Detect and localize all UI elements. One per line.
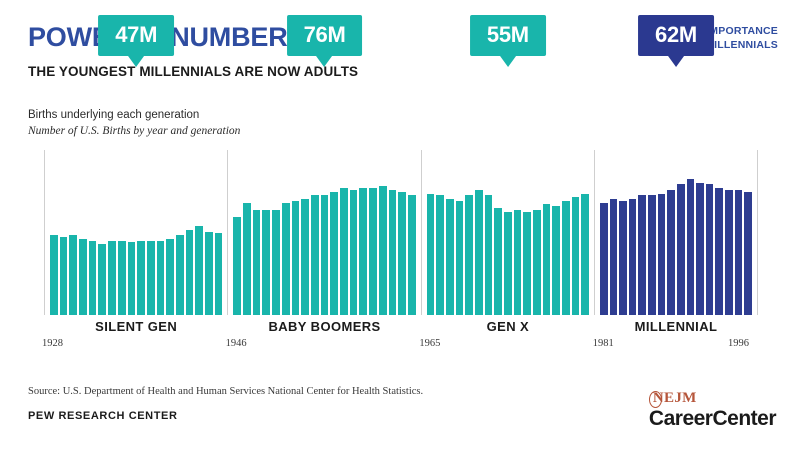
oval-icon (649, 391, 662, 408)
infographic-page: POWER IN NUMBERS THE IMPORTANCE OF MILLE… (0, 0, 800, 450)
bar (321, 195, 329, 315)
bar (735, 190, 743, 315)
axis-year-label: 1996 (728, 338, 749, 349)
attribution: PEW RESEARCH CENTER (28, 410, 178, 422)
bar-group (595, 150, 757, 315)
bar (330, 192, 338, 315)
bar (195, 226, 203, 315)
generation-total-callout: 47M (98, 15, 174, 56)
bar (658, 194, 666, 315)
bar (638, 195, 646, 315)
bar (166, 239, 174, 315)
page-subtitle: THE YOUNGEST MILLENNIALS ARE NOW ADULTS (28, 64, 358, 79)
bar-group (45, 150, 227, 315)
bar (359, 188, 367, 315)
bar (108, 241, 116, 315)
bar (147, 241, 155, 315)
bar (523, 212, 531, 315)
generation-section-millennial: 62MMILLENNIAL (594, 150, 758, 315)
bar (205, 232, 213, 315)
generation-label: MILLENNIAL (595, 319, 757, 334)
axis-year-label: 1946 (226, 338, 247, 349)
bar (79, 239, 87, 315)
bar-group (422, 150, 594, 315)
bar (552, 206, 560, 315)
generation-sections: 47MSILENT GEN76MBABY BOOMERS55MGEN X62MM… (44, 150, 758, 315)
bar (677, 184, 685, 315)
births-bar-chart: 47MSILENT GEN76MBABY BOOMERS55MGEN X62MM… (44, 150, 758, 315)
bar (340, 188, 348, 315)
generation-label: BABY BOOMERS (228, 319, 420, 334)
generation-section-silent-gen: 47MSILENT GEN (44, 150, 227, 315)
axis-year-label: 1965 (419, 338, 440, 349)
bar (485, 195, 493, 315)
nejm-careercenter-logo: NEJM CareerCenter (649, 390, 776, 429)
bar (648, 195, 656, 315)
nejm-wordmark: NEJM (649, 391, 697, 406)
bar (369, 188, 377, 315)
careercenter-text: CareerCenter (649, 408, 776, 429)
bar (725, 190, 733, 315)
bar (69, 235, 77, 315)
generation-section-gen-x: 55MGEN X (421, 150, 594, 315)
bar (572, 197, 580, 315)
chart-caption-main: Births underlying each generation (28, 109, 199, 121)
bar (272, 210, 280, 315)
bar (292, 201, 300, 315)
bar (408, 195, 416, 315)
bar (543, 204, 551, 315)
bar (533, 210, 541, 315)
chart-caption-italic: Number of U.S. Births by year and genera… (28, 124, 240, 140)
bar (350, 190, 358, 315)
bar (50, 235, 58, 315)
bar (243, 203, 251, 315)
bar (186, 230, 194, 315)
generation-label: GEN X (422, 319, 594, 334)
generation-total-callout: 55M (470, 15, 546, 56)
bar (118, 241, 126, 315)
bar (379, 186, 387, 315)
bar (89, 241, 97, 315)
bar (233, 217, 241, 315)
bar (562, 201, 570, 315)
bar (436, 195, 444, 315)
bar (744, 192, 752, 315)
bar (504, 212, 512, 315)
bar (215, 233, 223, 315)
bar (715, 188, 723, 315)
year-axis: 19281946196519811996 (0, 338, 800, 358)
bar (398, 192, 406, 315)
bar (253, 210, 261, 315)
bar-group (228, 150, 420, 315)
bar (137, 241, 145, 315)
bar (514, 210, 522, 315)
bar (262, 210, 270, 315)
bar (176, 235, 184, 315)
bar (456, 201, 464, 315)
source-note: Source: U.S. Department of Health and Hu… (28, 386, 423, 397)
bar (706, 184, 714, 315)
bar (301, 199, 309, 315)
generation-total-callout: 76M (287, 15, 363, 56)
bar (687, 179, 695, 315)
bar (311, 195, 319, 315)
bar (581, 194, 589, 315)
generation-label: SILENT GEN (45, 319, 227, 334)
bar (465, 195, 473, 315)
bar (629, 199, 637, 315)
bar (667, 190, 675, 315)
bar (60, 237, 68, 315)
axis-year-label: 1981 (593, 338, 614, 349)
bar (389, 190, 397, 315)
generation-section-baby-boomers: 76MBABY BOOMERS (227, 150, 420, 315)
bar (475, 190, 483, 315)
bar (446, 199, 454, 315)
axis-year-label: 1928 (42, 338, 63, 349)
generation-total-callout: 62M (638, 15, 714, 56)
bar (610, 199, 618, 315)
bar (600, 203, 608, 315)
bar (98, 244, 106, 315)
bar (619, 201, 627, 315)
bar (696, 183, 704, 315)
chart-caption: Births underlying each generation Number… (28, 108, 240, 139)
bar (157, 241, 165, 315)
bar (494, 208, 502, 315)
bar (128, 242, 136, 315)
bar (427, 194, 435, 315)
bar (282, 203, 290, 315)
